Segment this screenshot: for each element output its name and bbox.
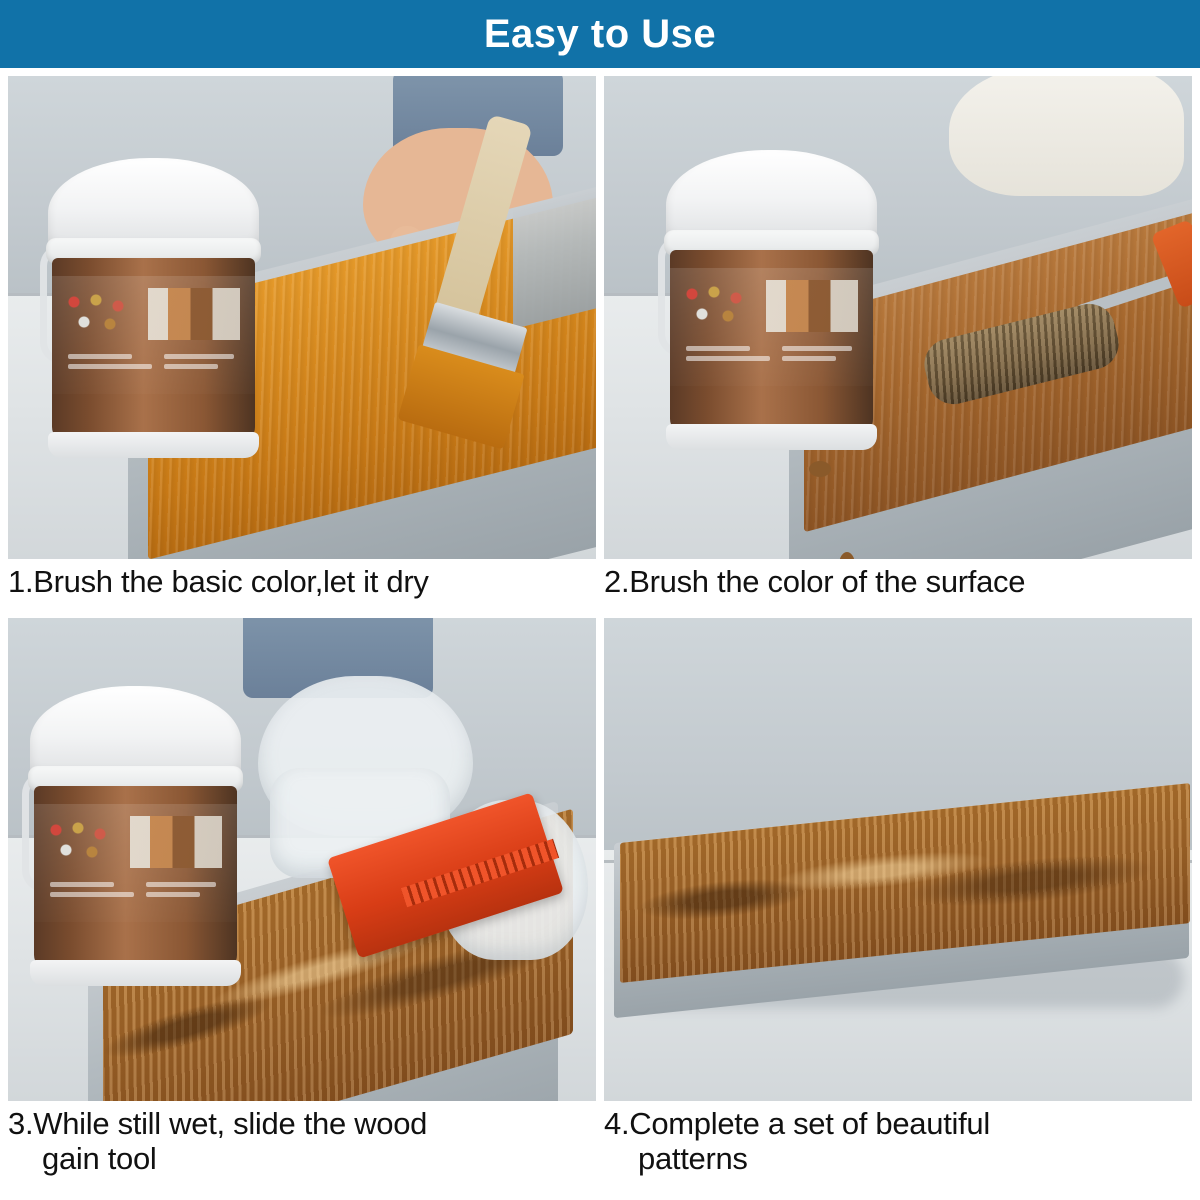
step-3-caption-line-1: 3.While still wet, slide the wood xyxy=(8,1106,427,1141)
board-unpainted-end xyxy=(513,183,596,329)
step-3-caption: 3.While still wet, slide the wood gain t… xyxy=(8,1107,596,1176)
header-banner: Easy to Use xyxy=(0,0,1200,68)
bucket-label-text xyxy=(686,356,770,361)
step-2: 2.Brush the color of the surface xyxy=(604,76,1192,600)
step-1-caption: 1.Brush the basic color,let it dry xyxy=(8,565,596,600)
bucket-label-text xyxy=(686,346,750,351)
product-infographic: Easy to Use xyxy=(0,0,1200,1200)
step-1-caption-line-1: 1.Brush the basic color,let it dry xyxy=(8,564,429,599)
bucket-label-swatches xyxy=(130,816,222,868)
bucket-label-text xyxy=(50,882,114,887)
bucket-label-text xyxy=(164,364,218,369)
bucket-body xyxy=(670,250,873,435)
step-3-caption-line-2: gain tool xyxy=(8,1142,596,1177)
paint-drip xyxy=(809,461,831,477)
bucket-lid xyxy=(666,150,877,242)
step-1: 1.Brush the basic color,let it dry xyxy=(8,76,596,600)
paint-bucket xyxy=(28,686,243,986)
bucket-foot xyxy=(666,424,877,450)
paint-bucket xyxy=(664,150,879,450)
step-3-photo xyxy=(8,618,596,1101)
bucket-label-text xyxy=(164,354,234,359)
step-4: 4.Complete a set of beautiful patterns xyxy=(604,618,1192,1176)
bucket-body xyxy=(52,258,255,443)
bucket-foot xyxy=(30,960,241,986)
step-2-caption-line-1: 2.Brush the color of the surface xyxy=(604,564,1025,599)
bucket-label-text xyxy=(68,364,152,369)
bucket-label-swatches xyxy=(766,280,858,332)
step-4-caption-line-1: 4.Complete a set of beautiful xyxy=(604,1106,990,1141)
step-4-caption-line-2: patterns xyxy=(604,1142,1192,1177)
bucket-label-text xyxy=(68,354,132,359)
step-1-photo xyxy=(8,76,596,559)
step-3: 3.While still wet, slide the wood gain t… xyxy=(8,618,596,1176)
step-4-photo xyxy=(604,618,1192,1101)
bucket-label-dots xyxy=(66,294,140,334)
step-2-caption: 2.Brush the color of the surface xyxy=(604,565,1192,600)
bucket-lid xyxy=(30,686,241,778)
bucket-foot xyxy=(48,432,259,458)
bucket-body xyxy=(34,786,237,971)
cloth xyxy=(949,76,1184,196)
step-4-caption: 4.Complete a set of beautiful patterns xyxy=(604,1107,1192,1176)
steps-grid: 1.Brush the basic color,let it dry xyxy=(0,68,1200,1200)
step-2-photo xyxy=(604,76,1192,559)
bucket-lid xyxy=(48,158,259,250)
page-title: Easy to Use xyxy=(484,14,716,54)
bucket-label-dots xyxy=(684,286,758,326)
bucket-label-dots xyxy=(48,822,122,862)
bucket-label-text xyxy=(146,892,200,897)
paint-bucket xyxy=(46,158,261,458)
bucket-label-text xyxy=(782,356,836,361)
bucket-label-text xyxy=(146,882,216,887)
bucket-label-text xyxy=(782,346,852,351)
bucket-label-swatches xyxy=(148,288,240,340)
bucket-label-text xyxy=(50,892,134,897)
